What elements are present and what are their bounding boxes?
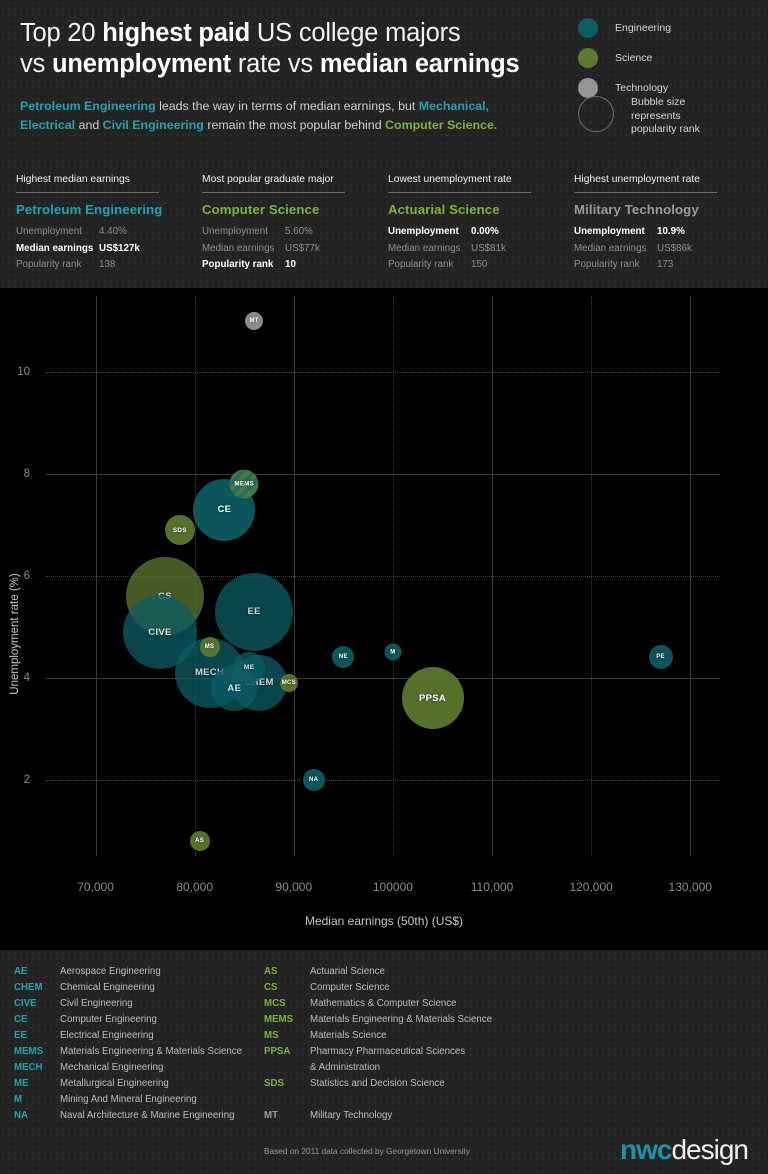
legend-dot-icon: [578, 18, 598, 38]
bubble-mt[interactable]: MT: [245, 312, 263, 330]
legend-label: Technology: [615, 82, 668, 94]
stat-value: US$77k: [285, 241, 320, 258]
stat-major-name: Actuarial Science: [388, 202, 548, 217]
stat-row: Median earningsUS$127k: [16, 241, 176, 258]
key-full-name: Materials Engineering & Materials Scienc…: [60, 1044, 242, 1060]
stat-heading: Highest unemployment rate: [574, 174, 734, 192]
stat-value: US$81k: [471, 241, 506, 258]
bubble-label: EE: [248, 606, 261, 617]
key-full-name: Metallurgical Engineering: [60, 1076, 169, 1092]
stat-key: Popularity rank: [574, 257, 657, 274]
bubble-label: CIVE: [148, 627, 171, 638]
stat-value: 5.60%: [285, 224, 313, 241]
key-row-mcs: MCSMathematics & Computer Science: [264, 996, 492, 1012]
stat-major-name: Petroleum Engineering: [16, 202, 176, 217]
bubble-label: NA: [309, 777, 318, 783]
divider: [388, 192, 531, 193]
key-row-cont: & Administration: [264, 1060, 492, 1076]
y-tick-label: 4: [24, 672, 30, 684]
legend-label: Engineering: [615, 22, 671, 34]
stat-major-name: Computer Science: [202, 202, 362, 217]
stat-key: Median earnings: [388, 241, 471, 258]
key-full-name-cont: & Administration: [310, 1060, 380, 1076]
bubble-label: MT: [250, 318, 259, 324]
bubble-ms[interactable]: MS: [200, 637, 220, 657]
key-full-name: Pharmacy Pharmaceutical Sciences: [310, 1044, 465, 1060]
y-tick-label: 10: [17, 366, 30, 378]
key-abbr: EE: [14, 1028, 60, 1044]
bubble-label: SDS: [173, 527, 187, 534]
y-axis-label: Unemployment rate (%): [9, 544, 21, 724]
key-row-mt: MTMilitary Technology: [264, 1108, 492, 1124]
bubble-label: CE: [218, 504, 232, 515]
key-abbr: AS: [264, 964, 310, 980]
key-full-name: Computer Science: [310, 980, 390, 996]
stat-heading: Lowest unemployment rate: [388, 174, 548, 192]
subtitle-highlight: Computer Science.: [385, 118, 497, 132]
key-abbr: MEMS: [264, 1012, 310, 1028]
bubble-pe[interactable]: PE: [649, 645, 673, 669]
stat-value: 138: [99, 257, 115, 274]
divider: [574, 192, 717, 193]
key-abbr-spacer: [264, 1060, 310, 1076]
key-row-ppsa: PPSAPharmacy Pharmaceutical Sciences: [264, 1044, 492, 1060]
key-full-name: Aerospace Engineering: [60, 964, 161, 980]
source-note: Based on 2011 data collected by Georgeto…: [264, 1146, 470, 1156]
key-abbr: CHEM: [14, 980, 60, 996]
key-row-chem: CHEMChemical Engineering: [14, 980, 242, 996]
key-full-name: Materials Science: [310, 1028, 386, 1044]
nwc-design-logo: nwcdesign: [620, 1134, 748, 1166]
stat-key: Popularity rank: [202, 257, 285, 274]
stat-card-0: Highest median earningsPetroleum Enginee…: [16, 174, 176, 274]
bubble-ppsa[interactable]: PPSA: [402, 667, 464, 729]
key-row-as: ASActuarial Science: [264, 964, 492, 980]
stat-value: 4.40%: [99, 224, 127, 241]
key-full-name: Naval Architecture & Marine Engineering: [60, 1108, 234, 1124]
key-full-name: Military Technology: [310, 1108, 392, 1124]
legend-item-engineering: Engineering: [578, 18, 758, 38]
y-tick-label: 2: [24, 774, 30, 786]
legend-label: Science: [615, 52, 652, 64]
key-full-name: Civil Engineering: [60, 996, 133, 1012]
subtitle-highlight: Petroleum Engineering: [20, 99, 156, 113]
stat-key: Unemployment: [388, 224, 471, 241]
key-full-name: Electrical Engineering: [60, 1028, 154, 1044]
key-abbr: ME: [14, 1076, 60, 1092]
key-row-cs: CSComputer Science: [264, 980, 492, 996]
x-tick-label: 110,000: [471, 880, 514, 894]
subtitle: Petroleum Engineering leads the way in t…: [20, 97, 540, 135]
key-row-ms: MSMaterials Science: [264, 1028, 492, 1044]
stat-card-2: Lowest unemployment rateActuarial Scienc…: [388, 174, 548, 274]
x-tick-label: 70,000: [77, 880, 114, 894]
x-tick-label: 80,000: [176, 880, 213, 894]
bubble-size-ring-icon: [578, 96, 614, 132]
key-abbr: CS: [264, 980, 310, 996]
x-tick-label: 120,000: [569, 880, 612, 894]
key-full-name: Chemical Engineering: [60, 980, 155, 996]
gridline-horizontal: [46, 780, 720, 781]
key-full-name: Actuarial Science: [310, 964, 385, 980]
gridline-horizontal: [46, 678, 720, 679]
stat-card-3: Highest unemployment rateMilitary Techno…: [574, 174, 734, 274]
key-full-name: Statistics and Decision Science: [310, 1076, 445, 1092]
stat-key: Popularity rank: [16, 257, 99, 274]
stat-value: 173: [657, 257, 673, 274]
bubble-mems[interactable]: MEMS: [230, 470, 259, 499]
bubble-size-legend-label: Bubble size represents popularity rank: [631, 96, 727, 137]
key-row-mems: MEMSMaterials Engineering & Materials Sc…: [264, 1012, 492, 1028]
key-full-name: Mechanical Engineering: [60, 1060, 163, 1076]
stat-card-1: Most popular graduate majorComputer Scie…: [202, 174, 362, 274]
stat-key: Popularity rank: [388, 257, 471, 274]
logo-secondary: design: [671, 1134, 748, 1165]
stat-row: Median earningsUS$77k: [202, 241, 362, 258]
key-abbr: M: [14, 1092, 60, 1108]
key-full-name: Mining And Mineral Engineering: [60, 1092, 197, 1108]
stat-row: Median earningsUS$81k: [388, 241, 548, 258]
stats-band: Highest median earningsPetroleum Enginee…: [0, 140, 768, 288]
divider: [16, 192, 159, 193]
stat-value: 150: [471, 257, 487, 274]
bubble-label: PPSA: [419, 693, 446, 704]
x-tick-label: 90,000: [275, 880, 312, 894]
bubble-me[interactable]: ME: [233, 652, 265, 684]
divider: [202, 192, 345, 193]
key-abbr: MT: [264, 1108, 310, 1124]
category-legend: EngineeringScienceTechnology: [578, 18, 758, 108]
bubble-label: NE: [339, 654, 348, 660]
bubble-size-legend: Bubble size represents popularity rank: [578, 96, 727, 137]
bubble-label: M: [390, 649, 395, 655]
logo-primary: nwc: [620, 1134, 671, 1165]
stat-heading: Highest median earnings: [16, 174, 176, 192]
key-abbr: CE: [14, 1012, 60, 1028]
bubble-label: ME: [244, 664, 255, 671]
key-abbr: MEMS: [14, 1044, 60, 1060]
header: Top 20 highest paid US college majors vs…: [0, 0, 768, 140]
bubble-label: MCS: [282, 680, 296, 686]
stat-key: Unemployment: [16, 224, 99, 241]
x-axis-label: Median earnings (50th) (US$): [0, 914, 768, 928]
stat-key: Median earnings: [202, 241, 285, 258]
stat-key: Unemployment: [574, 224, 657, 241]
key-row-ee: EEElectrical Engineering: [14, 1028, 242, 1044]
bubble-label: AS: [195, 838, 204, 844]
legend-item-technology: Technology: [578, 78, 758, 98]
stat-row: Popularity rank173: [574, 257, 734, 274]
stat-row: Unemployment0.00%: [388, 224, 548, 241]
footer: Based on 2011 data collected by Georgeto…: [0, 1126, 768, 1174]
bubble-na[interactable]: NA: [303, 769, 325, 791]
key-abbr: SDS: [264, 1076, 310, 1092]
key-abbr: CIVE: [14, 996, 60, 1012]
stat-value: 0.00%: [471, 224, 499, 241]
bubble-m[interactable]: M: [384, 644, 401, 661]
key-full-name: Materials Engineering & Materials Scienc…: [310, 1012, 492, 1028]
key-row-ae: AEAerospace Engineering: [14, 964, 242, 980]
gridline-horizontal: [46, 474, 720, 475]
key-row-na: NANaval Architecture & Marine Engineerin…: [14, 1108, 242, 1124]
key-row-sds: SDSStatistics and Decision Science: [264, 1076, 492, 1092]
bubble-chart: 246810 70,00080,00090,000100000110,00012…: [0, 288, 768, 950]
key-row-ce: CEComputer Engineering: [14, 1012, 242, 1028]
subtitle-highlight: Civil Engineering: [103, 118, 204, 132]
stat-row: Popularity rank150: [388, 257, 548, 274]
bubble-label: MS: [205, 644, 215, 650]
stat-row: Popularity rank10: [202, 257, 362, 274]
bubble-label: MEMS: [235, 481, 254, 488]
key-column-science: ASActuarial ScienceCSComputer ScienceMCS…: [264, 964, 492, 1124]
stat-row: Popularity rank138: [16, 257, 176, 274]
key-abbr: NA: [14, 1108, 60, 1124]
bubble-ee[interactable]: EE: [215, 573, 293, 651]
key-abbr: MCS: [264, 996, 310, 1012]
stat-row: Unemployment4.40%: [16, 224, 176, 241]
y-tick-label: 6: [24, 570, 30, 582]
bubble-label: PE: [656, 654, 665, 660]
x-tick-label: 100000: [373, 880, 413, 894]
stat-value: US$86k: [657, 241, 692, 258]
y-tick-label: 8: [24, 468, 30, 480]
stat-major-name: Military Technology: [574, 202, 734, 217]
key-row-me: MEMetallurgical Engineering: [14, 1076, 242, 1092]
stat-row: Unemployment10.9%: [574, 224, 734, 241]
legend-dot-icon: [578, 48, 598, 68]
key-abbr: AE: [14, 964, 60, 980]
key-abbr: MS: [264, 1028, 310, 1044]
gridline-horizontal: [46, 372, 720, 373]
stat-row: Unemployment5.60%: [202, 224, 362, 241]
bubble-label: AE: [227, 683, 241, 694]
key-abbr: PPSA: [264, 1044, 310, 1060]
stat-key: Median earnings: [16, 241, 99, 258]
bubble-as[interactable]: AS: [190, 831, 210, 851]
x-tick-label: 130,000: [669, 880, 712, 894]
stat-key: Median earnings: [574, 241, 657, 258]
bubble-mcs[interactable]: MCS: [280, 674, 298, 692]
stat-value: US$127k: [99, 241, 140, 258]
legend-item-science: Science: [578, 48, 758, 68]
stat-value: 10: [285, 257, 296, 274]
stat-key: Unemployment: [202, 224, 285, 241]
stat-value: 10.9%: [657, 224, 685, 241]
bubble-ne[interactable]: NE: [332, 646, 354, 668]
key-row-mech: MECHMechanical Engineering: [14, 1060, 242, 1076]
key-full-name: Mathematics & Computer Science: [310, 996, 456, 1012]
key-full-name: Computer Engineering: [60, 1012, 157, 1028]
bubble-sds[interactable]: SDS: [165, 515, 195, 545]
stat-heading: Most popular graduate major: [202, 174, 362, 192]
key-row-cive: CIVECivil Engineering: [14, 996, 242, 1012]
key-row-m: MMining And Mineral Engineering: [14, 1092, 242, 1108]
stat-row: Median earningsUS$86k: [574, 241, 734, 258]
key-abbr: MECH: [14, 1060, 60, 1076]
key-row-mems: MEMSMaterials Engineering & Materials Sc…: [14, 1044, 242, 1060]
legend-dot-icon: [578, 78, 598, 98]
abbreviation-key: AEAerospace EngineeringCHEMChemical Engi…: [0, 950, 768, 1126]
